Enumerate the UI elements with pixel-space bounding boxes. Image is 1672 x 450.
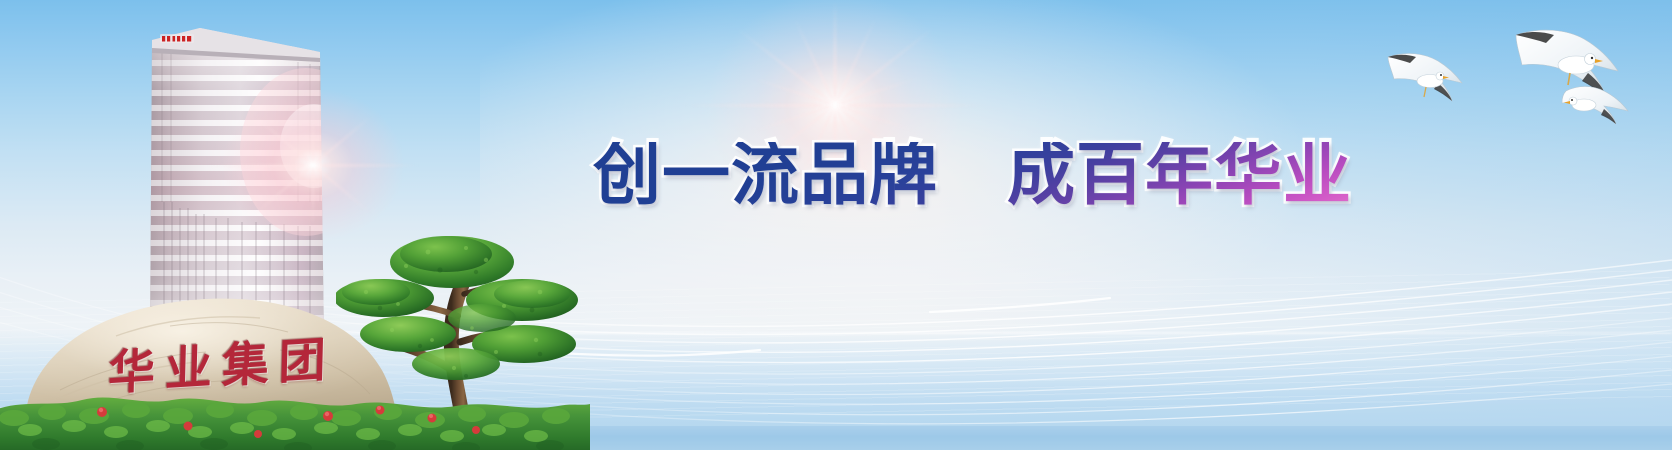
slogan: 创一流品牌 成百年华业 创一流品牌 成百年华业 bbox=[593, 128, 1353, 224]
seagull-icon-small-right bbox=[1562, 87, 1628, 125]
seagull-icon-small-left bbox=[1388, 54, 1462, 101]
seagull-icon-large bbox=[1516, 30, 1618, 97]
slogan-text: 创一流品牌 成百年华业 bbox=[593, 142, 1352, 210]
corporate-banner: 华业集团 bbox=[0, 0, 1672, 450]
building-signage bbox=[160, 34, 194, 43]
seagull-group bbox=[1370, 5, 1670, 130]
hedge-shrubs bbox=[0, 386, 590, 450]
building-flare-ray-v bbox=[312, 105, 314, 225]
